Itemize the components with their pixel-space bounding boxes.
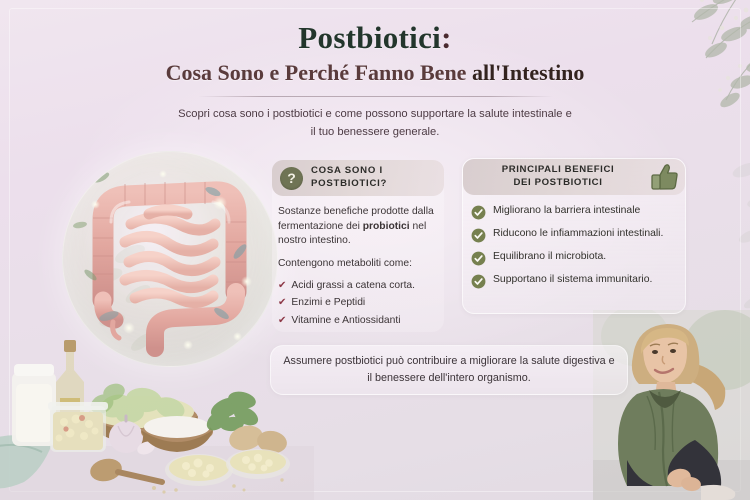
check-circle-icon <box>471 228 486 243</box>
list-item: ✔Vitamine e Antiossidanti <box>278 313 440 329</box>
left-card-title: COSA SONO I POSTBIOTICI? <box>311 165 387 191</box>
left-card-paragraph-2: Contengono metaboliti come: <box>278 257 440 272</box>
check-mark-icon: ✔ <box>278 278 286 294</box>
check-circle-icon <box>471 274 486 289</box>
left-card-paragraph-1b: probiotici <box>363 221 410 232</box>
left-card-header: ? COSA SONO I POSTBIOTICI? <box>272 160 444 196</box>
right-card-title-line1: PRINCIPALI BENEFICI <box>473 164 643 177</box>
metabolites-list: ✔Acidi grassi a catena corta. ✔Enzimi e … <box>278 278 440 329</box>
thumbs-up-icon <box>649 163 679 191</box>
left-card-paragraph-1: Sostanze benefiche prodotte dalla fermen… <box>278 205 440 249</box>
page-subtitle-accent: all'Intestino <box>472 60 584 85</box>
page-subtitle-main: Cosa Sono e Perché Fanno Bene <box>166 60 472 85</box>
page-title-text: Postbiotici <box>298 20 441 55</box>
list-item-label: Supportano il sistema immunitario. <box>493 273 652 287</box>
right-card-header: PRINCIPALI BENEFICI DEI POSTBIOTICI <box>463 159 685 195</box>
right-card-body: Migliorano la barriera intestinale Riduc… <box>463 195 685 289</box>
check-mark-icon: ✔ <box>278 313 286 329</box>
right-card-title: PRINCIPALI BENEFICI DEI POSTBIOTICI <box>473 164 643 190</box>
smiling-woman-photo <box>575 310 750 500</box>
main-benefits-card: PRINCIPALI BENEFICI DEI POSTBIOTICI Migl… <box>462 158 686 314</box>
question-mark-glyph: ? <box>287 171 296 185</box>
left-card-title-line2: POSTBIOTICI? <box>311 178 387 191</box>
check-circle-icon <box>471 251 486 266</box>
infographic-poster: Postbiotici: Cosa Sono e Perché Fanno Be… <box>0 0 750 500</box>
right-card-title-line2: DEI POSTBIOTICI <box>473 177 643 190</box>
page-subtitle: Cosa Sono e Perché Fanno Bene all'Intest… <box>0 61 750 85</box>
conclusion-text: Assumere postbiotici può contribuire a m… <box>271 353 627 388</box>
check-circle-icon <box>471 205 486 220</box>
list-item: ✔Acidi grassi a catena corta. <box>278 278 440 294</box>
list-item-label: Enzimi e Peptidi <box>291 295 365 310</box>
list-item: Supportano il sistema immunitario. <box>471 273 675 289</box>
list-item: ✔Enzimi e Peptidi <box>278 295 440 311</box>
left-card-title-line1: COSA SONO I <box>311 165 387 178</box>
fermented-food-illustration <box>0 320 314 500</box>
list-item-label: Migliorano la barriera intestinale <box>493 204 640 218</box>
list-item: Equilibrano il microbiota. <box>471 250 675 266</box>
list-item: Riducono le infiammazioni intestinali. <box>471 227 675 243</box>
list-item-label: Acidi grassi a catena corta. <box>291 278 415 293</box>
conclusion-banner: Assumere postbiotici può contribuire a m… <box>270 345 628 395</box>
list-item-label: Equilibrano il microbiota. <box>493 250 606 264</box>
left-card-body: Sostanze benefiche prodotte dalla fermen… <box>272 196 444 328</box>
check-mark-icon: ✔ <box>278 295 286 311</box>
page-title-colon: : <box>441 20 452 55</box>
page-title: Postbiotici: <box>0 22 750 55</box>
poster-header: Postbiotici: Cosa Sono e Perché Fanno Be… <box>0 22 750 142</box>
header-divider <box>198 96 553 97</box>
what-are-postbiotics-card: ? COSA SONO I POSTBIOTICI? Sostanze bene… <box>272 160 444 332</box>
list-item: Migliorano la barriera intestinale <box>471 204 675 220</box>
list-item-label: Riducono le infiammazioni intestinali. <box>493 227 663 241</box>
list-item-label: Vitamine e Antiossidanti <box>291 313 400 328</box>
question-mark-icon: ? <box>280 167 303 190</box>
header-lede: Scopri cosa sono i postbiotici e come po… <box>175 105 575 142</box>
benefits-list: Migliorano la barriera intestinale Riduc… <box>471 204 675 289</box>
